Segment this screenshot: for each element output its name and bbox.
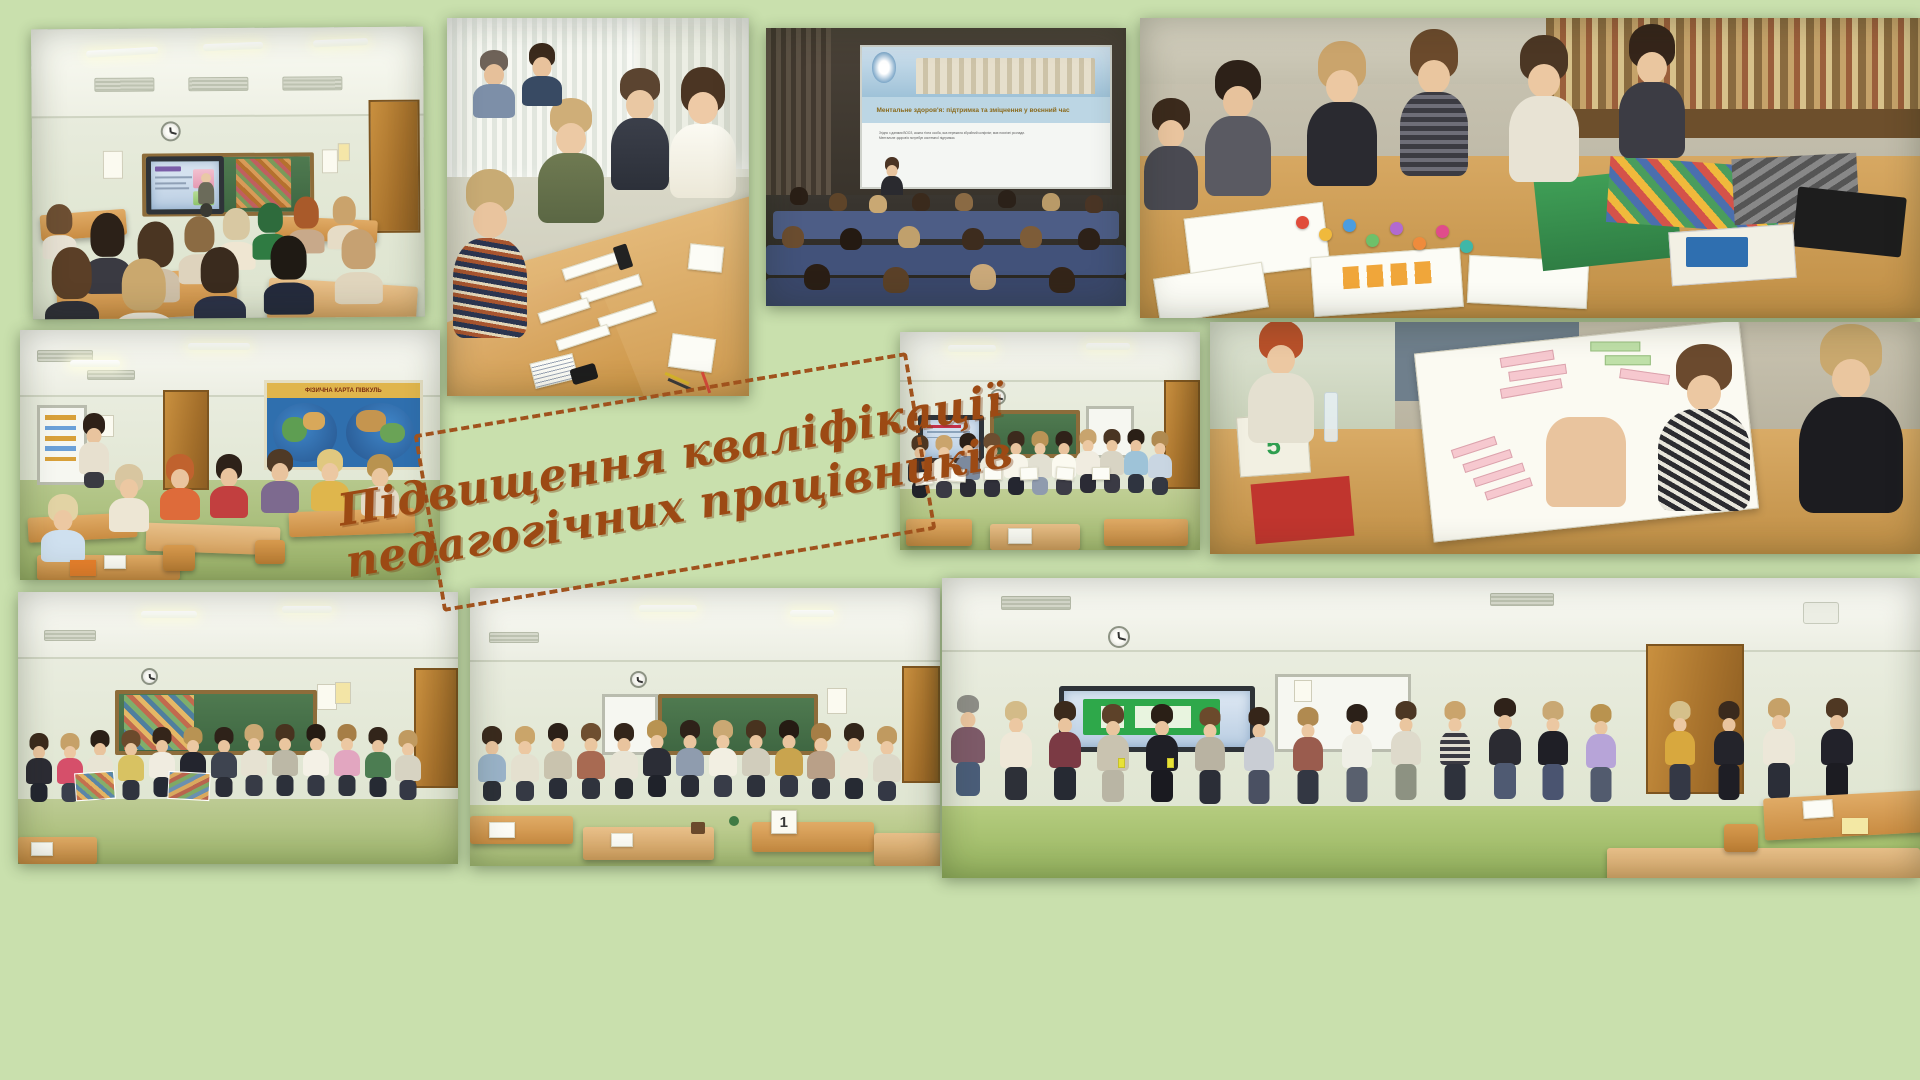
- photo-presentation-hall: Ментальне здоров'я: підтримка та зміцнен…: [766, 28, 1126, 306]
- photo-group-worktable-smiling: [447, 18, 749, 396]
- student-collage-poster: [167, 770, 210, 800]
- photo-group-photo-collages: [18, 592, 458, 864]
- photo-collage-canvas: Ментальне здоров'я: підтримка та зміцнен…: [0, 0, 1920, 1080]
- student-collage-poster: [74, 770, 116, 801]
- photo-flipchart-teamwork: 5: [1210, 322, 1920, 554]
- photo-large-group-final: [942, 578, 1920, 878]
- photo-classroom-lecture-audience: [31, 27, 425, 320]
- presenter: [197, 173, 215, 217]
- certificate: [1020, 467, 1039, 481]
- table-number-sign: 1: [771, 810, 797, 834]
- slide-title: Ментальне здоров'я: підтримка та зміцнен…: [876, 99, 1099, 123]
- photo-group-photo-desks: 1: [470, 588, 940, 866]
- certificate: [1092, 467, 1110, 480]
- certificate: [1055, 466, 1074, 481]
- photo-library-group-materials: [1140, 18, 1920, 318]
- map-poster-title: ФІЗИЧНА КАРТА ПІВКУЛЬ: [270, 384, 417, 397]
